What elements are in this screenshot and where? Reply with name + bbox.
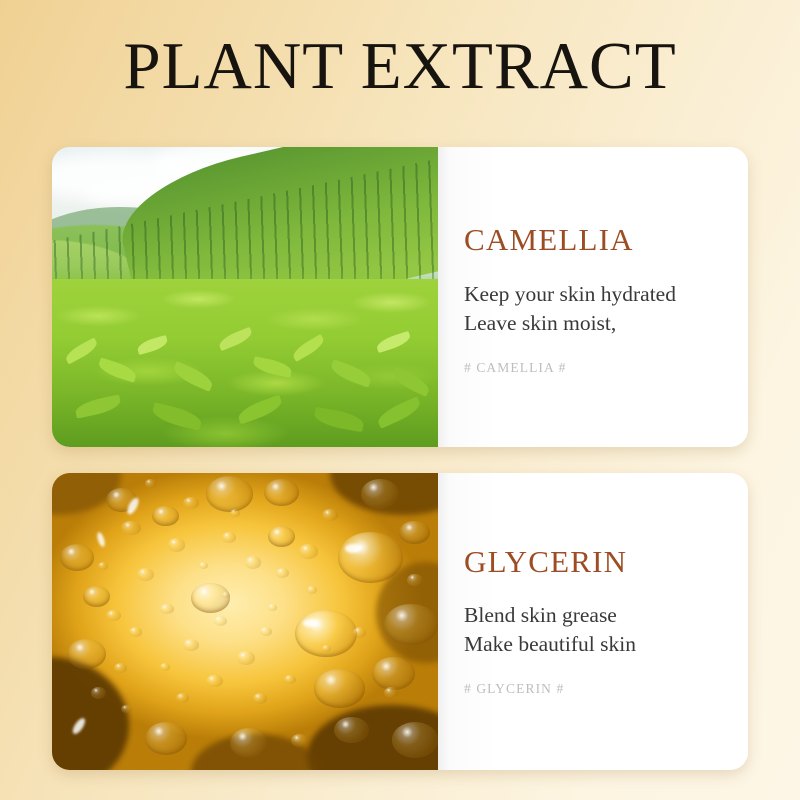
oil-bubble (183, 497, 198, 509)
oil-bubble (145, 479, 157, 488)
oil-bubble (322, 509, 337, 521)
oil-bubble (314, 669, 364, 708)
glycerin-text-panel: GLYCERIN Blend skin grease Make beautifu… (438, 473, 748, 770)
oil-bubble (67, 639, 106, 669)
ingredient-card-camellia[interactable]: CAMELLIA Keep your skin hydrated Leave s… (52, 147, 748, 447)
glycerin-image (52, 473, 438, 770)
glycerin-description: Blend skin grease Make beautiful skin (464, 601, 636, 659)
oil-bubble (407, 574, 422, 586)
camellia-image (52, 147, 438, 447)
oil-bubble (264, 479, 299, 506)
camellia-heading: CAMELLIA (464, 223, 634, 257)
oil-bubble (145, 722, 187, 755)
oil-bubble (353, 627, 366, 637)
golden-oil-illustration (52, 473, 438, 770)
oil-bubble (230, 728, 269, 758)
tea-plantation-illustration (52, 147, 438, 447)
oil-bubble (338, 532, 404, 582)
glycerin-heading: GLYCERIN (464, 545, 627, 579)
oil-bubble (222, 532, 236, 543)
oil-bubble (206, 476, 252, 512)
oil-bubble (214, 616, 227, 626)
oil-bubble (60, 544, 95, 571)
glycerin-tag: # GLYCERIN # (464, 681, 564, 697)
oil-bubble (237, 651, 255, 665)
oil-bubble (230, 509, 241, 517)
oil-bubble (384, 687, 398, 698)
oil-bubble (299, 544, 318, 558)
highlight-glint (345, 544, 360, 553)
camellia-tag: # CAMELLIA # (464, 360, 566, 376)
plant-extract-poster: PLANT EXTRACT (0, 0, 800, 800)
oil-bubble (183, 639, 198, 651)
oil-bubble (168, 538, 185, 551)
oil-bubble (392, 722, 438, 758)
ingredient-card-glycerin[interactable]: GLYCERIN Blend skin grease Make beautifu… (52, 473, 748, 770)
oil-bubble (129, 627, 141, 637)
oil-bubble (83, 586, 110, 607)
oil-bubble (206, 675, 222, 687)
oil-bubble (91, 687, 106, 699)
page-title: PLANT EXTRACT (0, 26, 800, 106)
oil-bubble (160, 663, 170, 671)
oil-bubble (121, 521, 140, 536)
camellia-text-panel: CAMELLIA Keep your skin hydrated Leave s… (438, 147, 748, 447)
oil-bubble (384, 604, 438, 646)
oil-bubble (372, 657, 414, 690)
oil-bubble (245, 556, 261, 568)
oil-bubble (114, 663, 127, 673)
oil-bubble (334, 717, 369, 744)
camellia-description: Keep your skin hydrated Leave skin moist… (464, 280, 676, 338)
oil-bubble (137, 568, 154, 581)
oil-bubble (361, 479, 400, 509)
oil-bubble (106, 610, 121, 621)
oil-bubble (307, 586, 317, 594)
